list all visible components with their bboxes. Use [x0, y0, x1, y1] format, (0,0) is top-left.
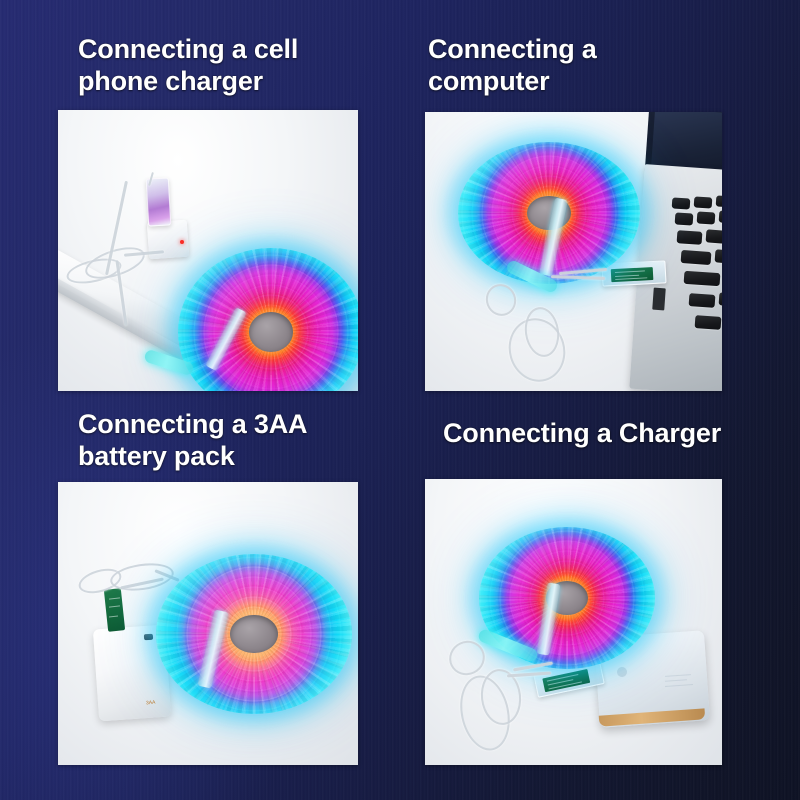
laptop-key-f1[interactable] [694, 196, 713, 208]
photo-panel-3aa-battery-pack: 3AA [58, 482, 358, 765]
laptop-key-esc[interactable] [672, 197, 691, 209]
laptop-key-tilde[interactable] [675, 212, 694, 225]
laptop-usb-port [652, 288, 666, 311]
laptop-key-2[interactable] [719, 210, 722, 223]
laptop-key-tab[interactable] [677, 230, 703, 245]
led-coil [156, 554, 352, 714]
laptop-key-q[interactable] [706, 229, 722, 243]
laptop-key-a[interactable] [715, 249, 722, 263]
battery-pack-label: 3AA [146, 700, 156, 707]
photo-panel-cell-phone-charger [58, 110, 358, 391]
caption-3aa-battery-pack: Connecting a 3AA battery pack [78, 409, 307, 473]
laptop-key-cmd[interactable] [695, 315, 722, 330]
laptop-key-shift[interactable] [684, 271, 721, 286]
laptop-key-capslock[interactable] [681, 250, 712, 265]
laptop-key-ctrl[interactable] [689, 293, 716, 308]
caption-computer: Connecting a computer [428, 34, 597, 98]
laptop-key-f2[interactable] [716, 195, 722, 207]
photo-panel-computer [425, 112, 722, 391]
coil-specular-highlight [156, 554, 352, 714]
poster-background: Connecting a cell phone charger Connecti… [0, 0, 800, 800]
caption-cell-phone-charger: Connecting a cell phone charger [78, 34, 298, 98]
adapter-power-led [180, 240, 184, 244]
caption-charger: Connecting a Charger [443, 418, 721, 450]
photo-panel-charger [425, 479, 722, 765]
laptop-key-alt[interactable] [719, 292, 722, 307]
laptop-key-1[interactable] [697, 211, 716, 224]
